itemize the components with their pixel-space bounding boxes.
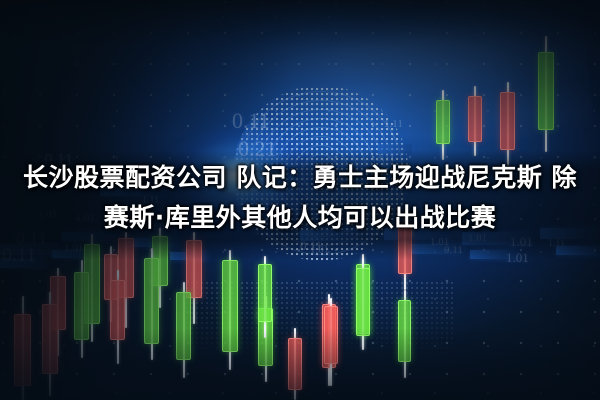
bottom-fade-overlay <box>0 0 600 400</box>
stock-market-news-banner: 0.110.211.113.110.111.011.111.011.010.11… <box>0 0 600 400</box>
